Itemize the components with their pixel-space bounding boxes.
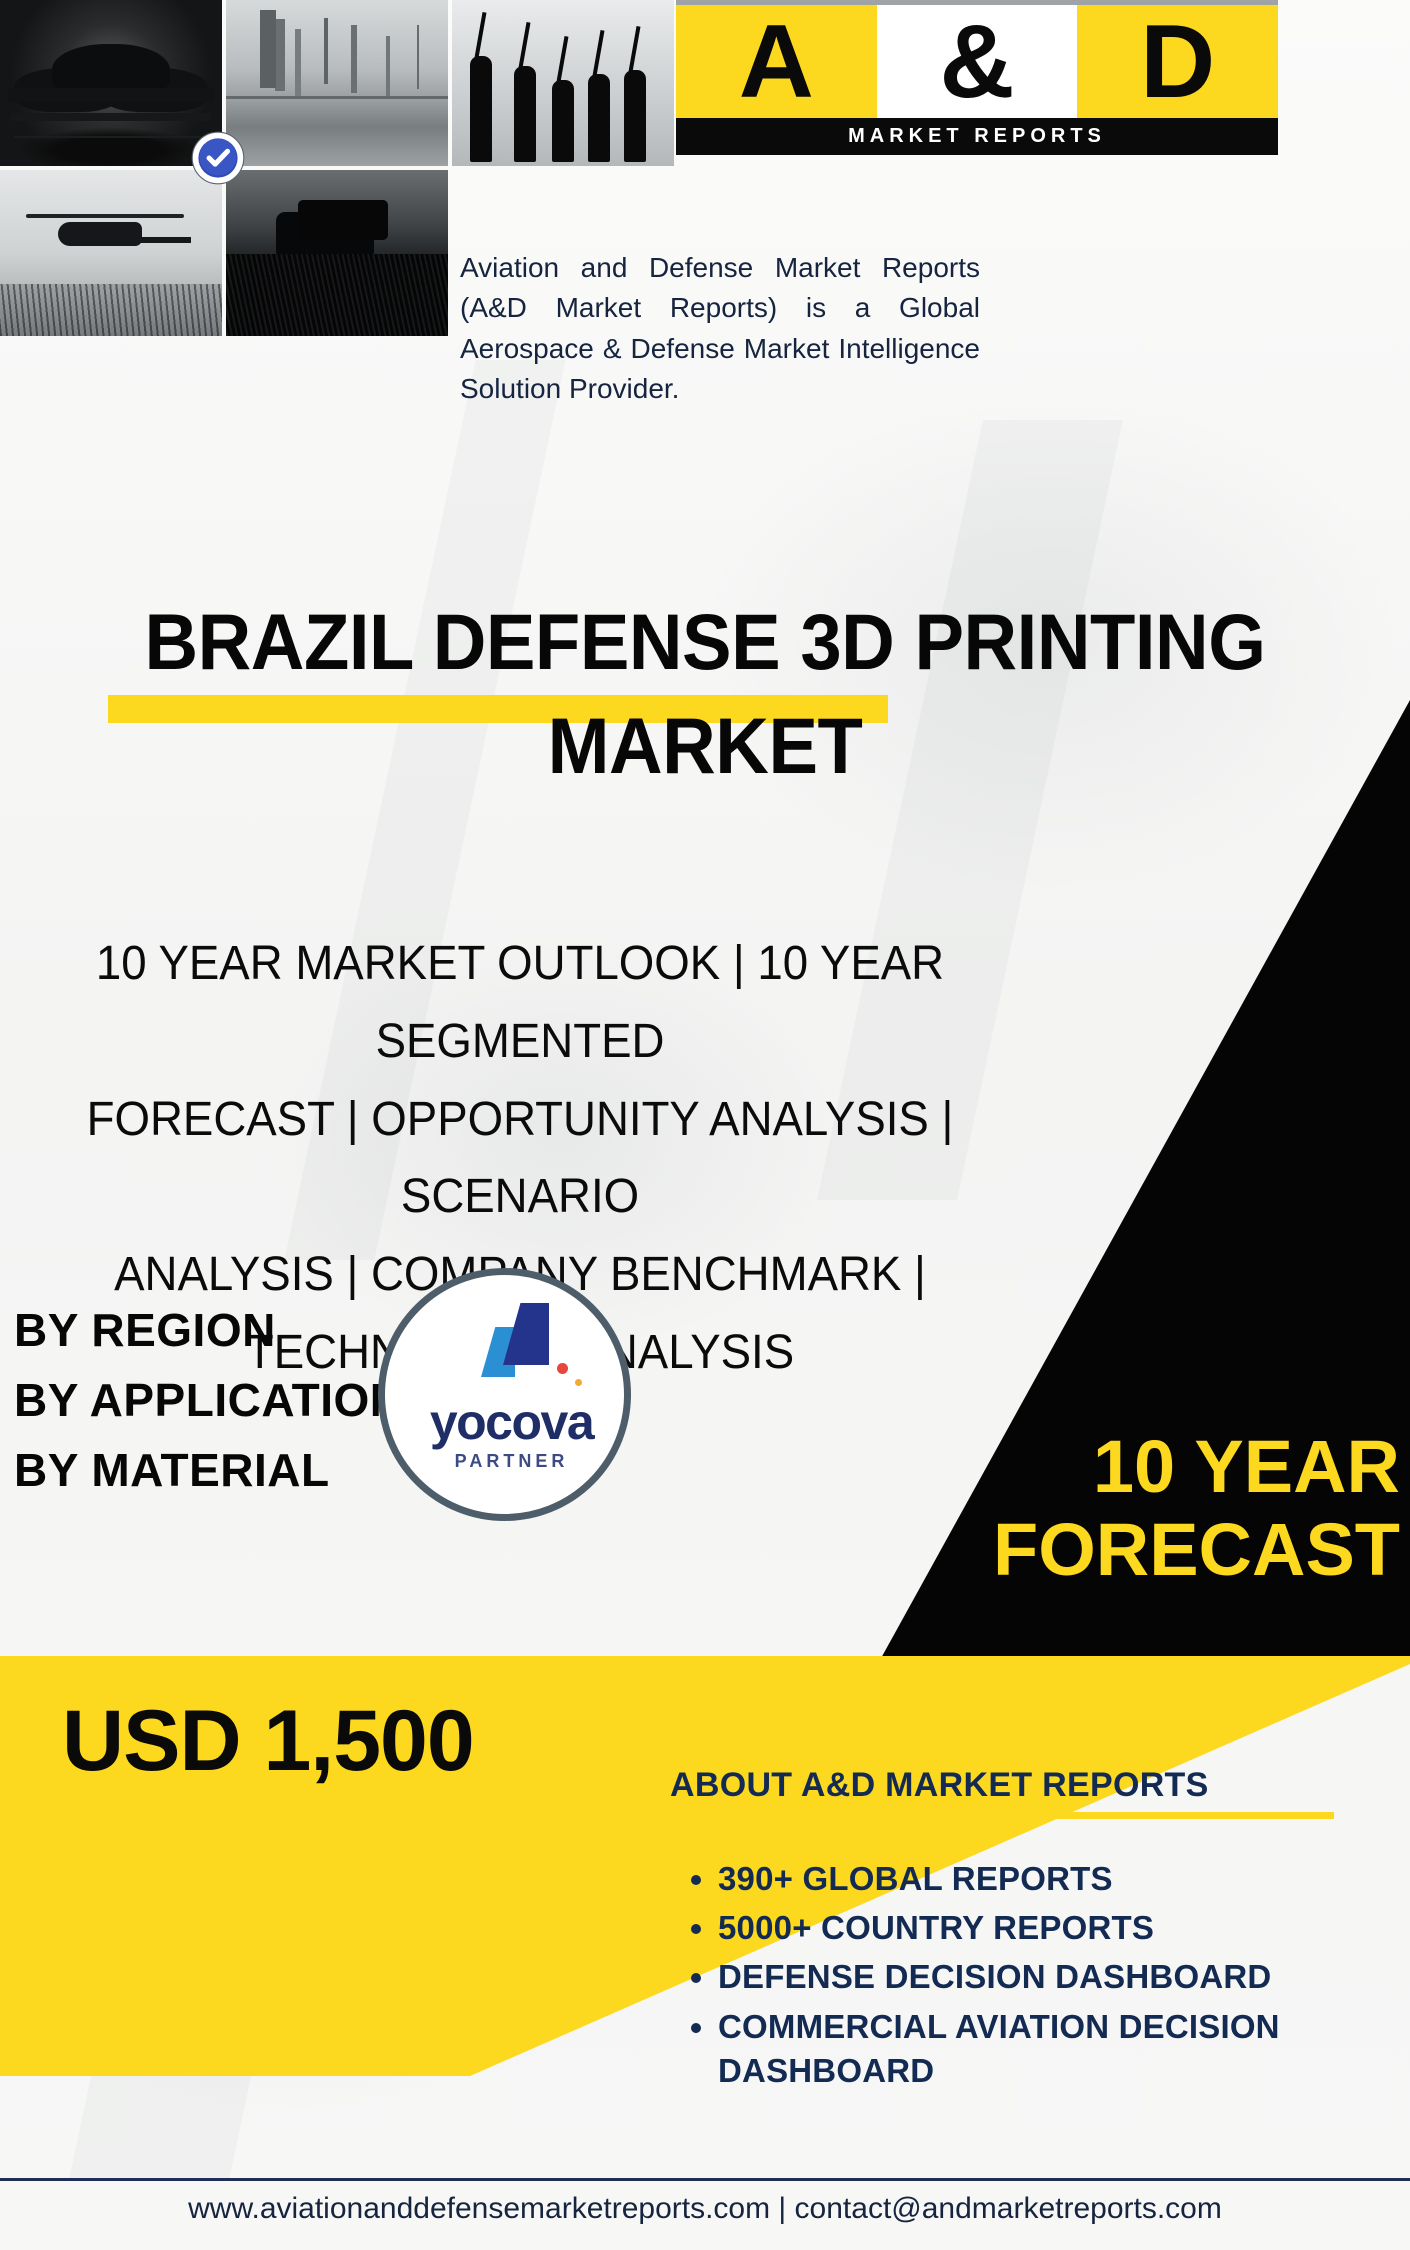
grass-foreground: [0, 284, 222, 336]
segmentation-item-material: BY MATERIAL: [14, 1436, 404, 1506]
page-title: BRAZIL DEFENSE 3D PRINTING MARKET: [42, 590, 1367, 799]
about-bullet-aviation-dashboard: COMMERCIAL AVIATION DECISION DASHBOARD: [718, 2005, 1352, 2093]
forecast-line-2: FORECAST: [870, 1509, 1400, 1592]
footer-divider: [0, 2178, 1410, 2181]
about-bullet-global-reports: 390+ GLOBAL REPORTS: [718, 1857, 1352, 1901]
soldiers-silhouette-photo: [452, 0, 674, 166]
report-title-block: BRAZIL DEFENSE 3D PRINTING MARKET: [0, 590, 1410, 799]
forecast-line-1: 10 YEAR: [870, 1426, 1400, 1509]
helicopter-photo: [0, 170, 222, 336]
verified-check-icon: [190, 130, 246, 186]
yocova-dot-orange-icon: [575, 1379, 582, 1386]
forecast-callout: 10 YEAR FORECAST: [870, 1426, 1400, 1592]
footer-contact: www.aviationanddefensemarketreports.com …: [0, 2192, 1410, 2226]
armored-vehicle-photo: [226, 170, 448, 336]
fighter-jet-photo: [0, 0, 222, 166]
segmentation-list: BY REGION BY APPLICATION BY MATERIAL: [14, 1296, 404, 1506]
about-bullet-list: 390+ GLOBAL REPORTS 5000+ COUNTRY REPORT…: [662, 1857, 1352, 2093]
yocova-partner-badge: yocova PARTNER: [378, 1268, 631, 1521]
yocova-partner-label: PARTNER: [385, 1451, 631, 1472]
logo-subtitle-bar: MARKET REPORTS: [676, 118, 1278, 155]
aircraft-carrier-photo: [226, 0, 448, 166]
about-underline: [662, 1812, 1334, 1819]
company-description: Aviation and Defense Market Reports (A&D…: [460, 248, 980, 409]
page-title-line-2: MARKET: [61, 694, 1349, 798]
logo-letters-row: A & D: [676, 0, 1278, 118]
yocova-dot-red-icon: [557, 1363, 568, 1374]
about-section: ABOUT A&D MARKET REPORTS 390+ GLOBAL REP…: [662, 1766, 1352, 2098]
subtitle-line-1: 10 YEAR MARKET OUTLOOK | 10 YEAR SEGMENT…: [45, 925, 995, 1081]
subtitle-line-2: FORECAST | OPPORTUNITY ANALYSIS | SCENAR…: [45, 1081, 995, 1237]
segmentation-item-application: BY APPLICATION: [14, 1366, 404, 1436]
price-value: USD 1,500: [62, 1692, 474, 1791]
brand-logo: A & D MARKET REPORTS: [676, 0, 1278, 155]
logo-letter-ampersand: &: [877, 5, 1078, 118]
page-title-line-1: BRAZIL DEFENSE 3D PRINTING: [61, 590, 1349, 694]
segmentation-item-region: BY REGION: [14, 1296, 404, 1366]
logo-letter-d: D: [1077, 5, 1278, 118]
about-title: ABOUT A&D MARKET REPORTS: [662, 1766, 1352, 1805]
logo-subtitle-text: MARKET REPORTS: [848, 125, 1106, 148]
yocova-wordmark: yocova: [385, 1393, 631, 1451]
about-bullet-defense-dashboard: DEFENSE DECISION DASHBOARD: [718, 1955, 1352, 1999]
logo-letter-a: A: [676, 5, 877, 118]
about-bullet-country-reports: 5000+ COUNTRY REPORTS: [718, 1906, 1352, 1950]
